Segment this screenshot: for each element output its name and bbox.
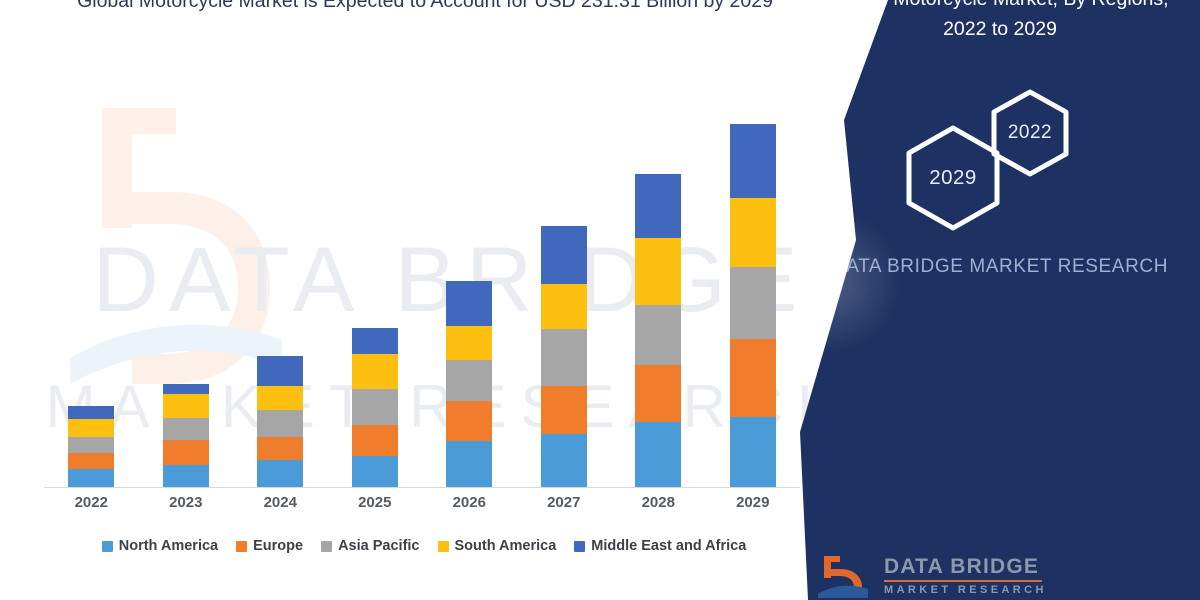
x-axis-tick-2024: 2024 <box>233 494 328 511</box>
bar-segment[interactable] <box>446 401 492 440</box>
bar-segment[interactable] <box>730 198 776 267</box>
bar-slot <box>422 110 517 487</box>
stacked-bar-chart <box>44 110 800 490</box>
bar-segment[interactable] <box>68 437 114 453</box>
legend-label: Europe <box>253 538 303 554</box>
legend-item[interactable]: North America <box>102 538 218 554</box>
stacked-bar[interactable] <box>68 406 114 487</box>
hex-badge-2022-label: 2022 <box>988 88 1072 178</box>
hexagon-badges: 2029 2022 <box>888 88 1118 228</box>
legend-swatch-icon <box>438 541 449 552</box>
bar-slot <box>328 110 423 487</box>
legend-swatch-icon <box>574 541 585 552</box>
logo-wordmark: DATA BRIDGE MARKET RESEARCH <box>884 556 1047 596</box>
x-axis-tick-2025: 2025 <box>328 494 423 511</box>
stacked-bar[interactable] <box>541 226 587 487</box>
legend-swatch-icon <box>102 541 113 552</box>
bar-segment[interactable] <box>163 394 209 418</box>
data-bridge-b-logo-icon <box>818 554 870 598</box>
bar-segment[interactable] <box>257 410 303 438</box>
bar-segment[interactable] <box>635 174 681 238</box>
bar-segment[interactable] <box>352 389 398 425</box>
legend-item[interactable]: Middle East and Africa <box>574 538 746 554</box>
bar-segment[interactable] <box>730 267 776 339</box>
bar-segment[interactable] <box>541 386 587 435</box>
legend-item[interactable]: Asia Pacific <box>321 538 419 554</box>
chart-panel: DATA BRIDGE MARKET RESEARCH Global Motor… <box>0 0 900 600</box>
bar-slot <box>611 110 706 487</box>
logo-main-text: DATA BRIDGE <box>884 556 1047 577</box>
bar-segment[interactable] <box>541 226 587 284</box>
bar-segment[interactable] <box>541 329 587 386</box>
x-axis-tick-2027: 2027 <box>517 494 612 511</box>
bar-segment[interactable] <box>257 356 303 386</box>
bar-segment[interactable] <box>446 441 492 488</box>
hex-badge-2022: 2022 <box>988 88 1072 178</box>
company-logo: DATA BRIDGE MARKET RESEARCH <box>818 552 1188 600</box>
stacked-bar[interactable] <box>352 328 398 487</box>
stacked-bar[interactable] <box>635 174 681 487</box>
bar-segment[interactable] <box>163 384 209 394</box>
bar-segment[interactable] <box>68 406 114 418</box>
bar-segment[interactable] <box>730 124 776 198</box>
bar-group <box>44 110 800 487</box>
x-axis-tick-2028: 2028 <box>611 494 706 511</box>
stacked-bar[interactable] <box>163 384 209 487</box>
legend-label: Middle East and Africa <box>591 538 746 554</box>
bar-segment[interactable] <box>68 469 114 487</box>
bar-segment[interactable] <box>446 326 492 360</box>
bar-segment[interactable] <box>68 419 114 438</box>
bar-slot <box>44 110 139 487</box>
bar-segment[interactable] <box>163 418 209 440</box>
legend-swatch-icon <box>321 541 332 552</box>
x-axis-tick-2023: 2023 <box>139 494 234 511</box>
bar-segment[interactable] <box>541 434 587 487</box>
bar-segment[interactable] <box>635 305 681 365</box>
bar-segment[interactable] <box>163 465 209 487</box>
bar-slot <box>139 110 234 487</box>
stacked-bar[interactable] <box>730 124 776 487</box>
bar-segment[interactable] <box>352 425 398 456</box>
stacked-bar[interactable] <box>446 281 492 487</box>
bar-segment[interactable] <box>68 453 114 469</box>
bar-segment[interactable] <box>635 365 681 422</box>
legend-item[interactable]: South America <box>438 538 557 554</box>
chart-legend: North AmericaEuropeAsia PacificSouth Ame… <box>44 538 804 554</box>
bar-segment[interactable] <box>541 284 587 329</box>
title-panel: Global Motorcycle Market, By Regions, 20… <box>800 0 1200 600</box>
bar-segment[interactable] <box>163 440 209 466</box>
bar-slot <box>233 110 328 487</box>
x-axis-labels: 20222023202420252026202720282029 <box>44 494 800 511</box>
x-axis-tick-2029: 2029 <box>706 494 801 511</box>
logo-sub-text: MARKET RESEARCH <box>884 585 1047 596</box>
bar-slot <box>706 110 801 487</box>
x-axis-line <box>44 487 800 488</box>
brand-name: DATA BRIDGE MARKET RESEARCH <box>824 252 1176 281</box>
x-axis-tick-2022: 2022 <box>44 494 139 511</box>
bar-segment[interactable] <box>730 417 776 487</box>
bar-segment[interactable] <box>257 460 303 487</box>
bar-segment[interactable] <box>730 339 776 416</box>
legend-label: Asia Pacific <box>338 538 419 554</box>
bar-slot <box>517 110 612 487</box>
page-title: Global Motorcycle Market is Expected to … <box>30 0 820 16</box>
bar-segment[interactable] <box>635 422 681 487</box>
bar-segment[interactable] <box>352 456 398 487</box>
bar-segment[interactable] <box>446 360 492 401</box>
legend-item[interactable]: Europe <box>236 538 303 554</box>
stacked-bar[interactable] <box>257 356 303 487</box>
bar-segment[interactable] <box>257 386 303 410</box>
bar-segment[interactable] <box>446 281 492 325</box>
legend-label: North America <box>119 538 218 554</box>
bar-segment[interactable] <box>257 437 303 460</box>
bar-segment[interactable] <box>352 354 398 389</box>
bar-segment[interactable] <box>352 328 398 354</box>
x-axis-tick-2026: 2026 <box>422 494 517 511</box>
plot-area <box>44 110 800 488</box>
bar-segment[interactable] <box>635 238 681 305</box>
logo-divider <box>884 580 1042 582</box>
legend-label: South America <box>455 538 557 554</box>
infographic-canvas: DATA BRIDGE MARKET RESEARCH Global Motor… <box>0 0 1200 600</box>
legend-swatch-icon <box>236 541 247 552</box>
